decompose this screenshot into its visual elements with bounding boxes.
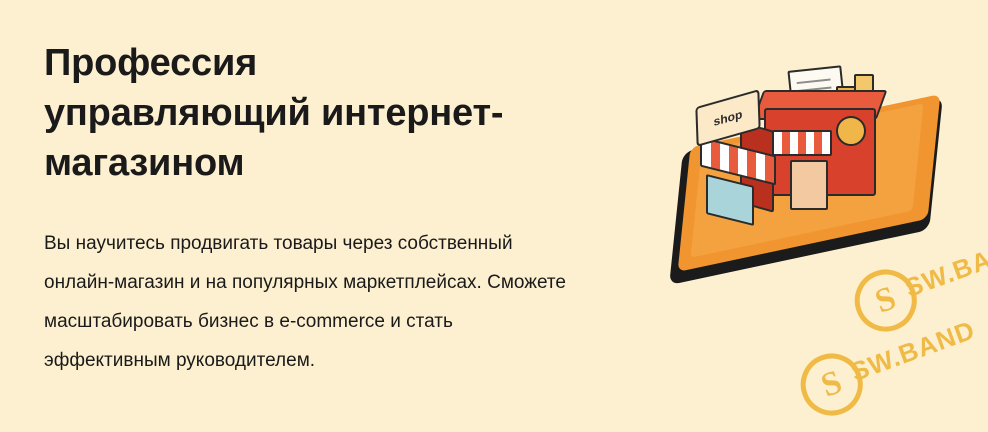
watermark-logo-icon: S (792, 345, 871, 424)
page-title-line-3: магазином (44, 142, 244, 184)
shop-awning-front (772, 130, 832, 156)
page-title-line-2: управляющий интернет- (44, 92, 503, 134)
watermark-text: SW.BAND (847, 314, 980, 388)
page-root: Профессия управляющий интернет- магазино… (0, 0, 988, 432)
page-title-line-1: Профессия (44, 42, 257, 84)
page-description: Вы научитесь продвигать товары через соб… (44, 188, 574, 380)
text-content-block: Профессия управляющий интернет- магазино… (44, 38, 644, 380)
online-shop-illustration: shop (640, 30, 970, 280)
shop-door (790, 160, 828, 210)
page-title: Профессия управляющий интернет- магазино… (44, 38, 584, 188)
coin-icon (836, 116, 866, 146)
